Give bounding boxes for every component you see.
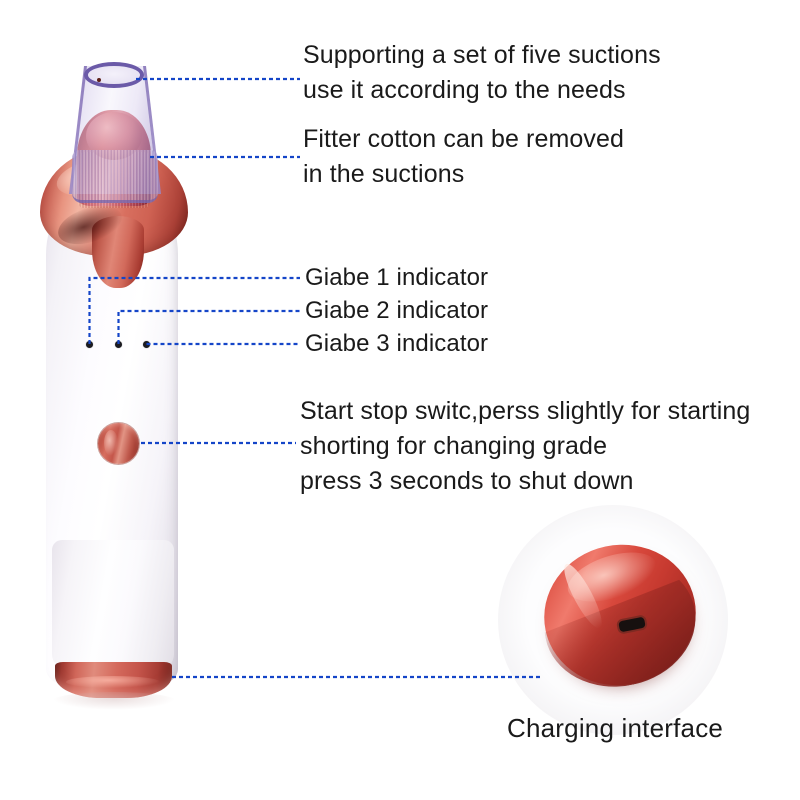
callout-charging-interface: Charging interface [507, 713, 723, 744]
indicator-dot-2 [115, 341, 122, 348]
callout-giabe-3: Giabe 3 indicator [305, 327, 488, 361]
callout-giabe-1: Giabe 1 indicator [305, 261, 488, 295]
suction-tip-opening [84, 62, 144, 88]
device-base-shadow [52, 692, 176, 710]
callout-suctions: Supporting a set of five suctions use it… [303, 38, 661, 108]
product-diagram-page: Supporting a set of five suctions use it… [0, 0, 800, 800]
device-body-lower [52, 540, 174, 670]
power-button-highlight [104, 430, 118, 456]
indicator-dot-1 [86, 341, 93, 348]
device-base-highlight [66, 676, 160, 688]
suction-tip-ribbed-base [72, 150, 158, 203]
callout-filter-cotton: Fitter cotton can be removed in the suct… [303, 122, 624, 192]
callout-power-switch: Start stop switc,perss slightly for star… [300, 394, 750, 499]
blackhead-suction-device [0, 0, 260, 760]
suction-tip-speck [97, 78, 101, 82]
callout-giabe-2: Giabe 2 indicator [305, 294, 488, 328]
indicator-dot-3 [143, 341, 150, 348]
